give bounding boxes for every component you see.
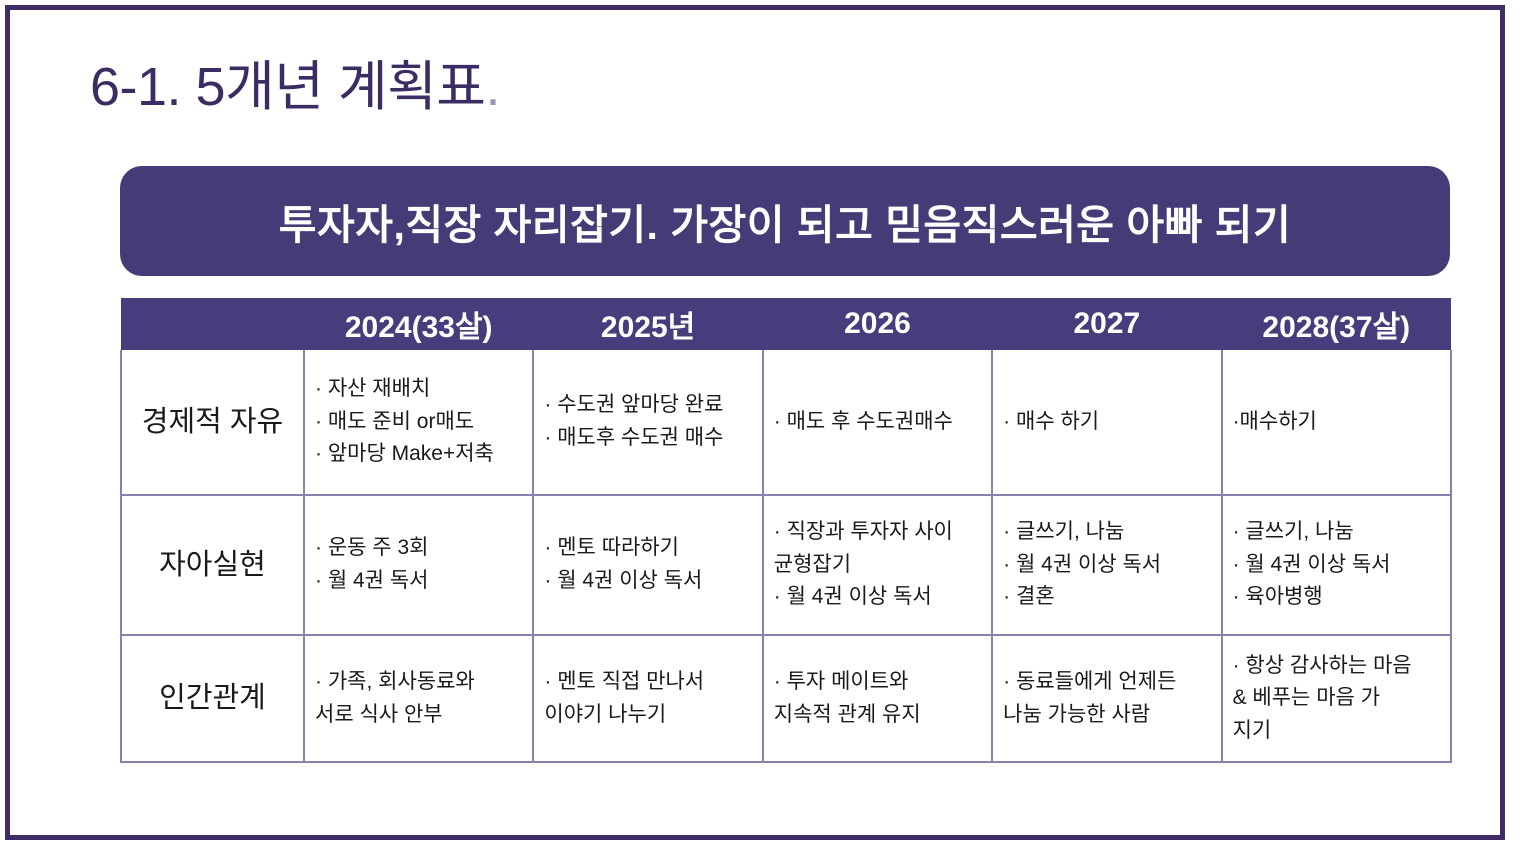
cell-text: · 직장과 투자자 사이 균형잡기 · 월 4권 이상 독서 (774, 516, 981, 614)
table-header-2028: 2028(37살) (1222, 298, 1451, 350)
cell-relationships-2027: · 동료들에게 언제든 나눔 가능한 사람 (992, 635, 1221, 762)
cell-text: · 멘토 직접 만나서 이야기 나누기 (544, 666, 751, 731)
page-title-text: 6-1. 5개년 계획표 (90, 57, 486, 117)
cell-relationships-2026: · 투자 메이트와 지속적 관계 유지 (763, 635, 992, 762)
goal-banner-text: 투자자,직장 자리잡기. 가장이 되고 믿음직스러운 아빠 되기 (279, 191, 1291, 251)
cell-text: · 매도 후 수도권매수 (774, 406, 981, 439)
cell-text: ·매수하기 (1233, 406, 1440, 439)
cell-self-realization-2028: · 글쓰기, 나눔 · 월 4권 이상 독서 · 육아병행 (1222, 495, 1451, 635)
cell-relationships-2028: · 항상 감사하는 마음 & 베푸는 마음 가 지기 (1222, 635, 1451, 762)
cell-text: · 가족, 회사동료와 서로 식사 안부 (315, 666, 522, 731)
cell-economic-freedom-2026: · 매도 후 수도권매수 (763, 350, 992, 495)
cell-text: · 글쓰기, 나눔 · 월 4권 이상 독서 · 육아병행 (1233, 516, 1440, 614)
cell-self-realization-2026: · 직장과 투자자 사이 균형잡기 · 월 4권 이상 독서 (763, 495, 992, 635)
table-header-row: 2024(33살) 2025년 2026 2027 2028(37살) (121, 298, 1451, 350)
goal-banner: 투자자,직장 자리잡기. 가장이 되고 믿음직스러운 아빠 되기 (120, 166, 1450, 276)
page-title-period: . (486, 57, 501, 117)
slide-frame: 6-1. 5개년 계획표. 투자자,직장 자리잡기. 가장이 되고 믿음직스러운… (5, 5, 1505, 840)
table-header-corner (121, 298, 304, 350)
cell-text: · 멘토 따라하기 · 월 4권 이상 독서 (544, 532, 751, 597)
cell-economic-freedom-2025: · 수도권 앞마당 완료 · 매도후 수도권 매수 (533, 350, 762, 495)
cell-self-realization-2024: · 운동 주 3회 · 월 4권 독서 (304, 495, 533, 635)
table-header-2027: 2027 (992, 298, 1221, 350)
cell-economic-freedom-2024: · 자산 재배치 · 매도 준비 or매도 · 앞마당 Make+저축 (304, 350, 533, 495)
cell-text: · 운동 주 3회 · 월 4권 독서 (315, 532, 522, 597)
cell-text: · 글쓰기, 나눔 · 월 4권 이상 독서 · 결혼 (1003, 516, 1210, 614)
row-label-relationships: 인간관계 (121, 635, 304, 762)
cell-relationships-2024: · 가족, 회사동료와 서로 식사 안부 (304, 635, 533, 762)
cell-text: · 투자 메이트와 지속적 관계 유지 (774, 666, 981, 731)
five-year-plan-table: 2024(33살) 2025년 2026 2027 2028(37살) 경제적 … (120, 298, 1452, 763)
table-row: 자아실현 · 운동 주 3회 · 월 4권 독서 · 멘토 따라하기 · 월 4… (121, 495, 1451, 635)
table-row: 인간관계 · 가족, 회사동료와 서로 식사 안부 · 멘토 직접 만나서 이야… (121, 635, 1451, 762)
cell-text: · 수도권 앞마당 완료 · 매도후 수도권 매수 (544, 389, 751, 454)
table-row: 경제적 자유 · 자산 재배치 · 매도 준비 or매도 · 앞마당 Make+… (121, 350, 1451, 495)
table-body: 경제적 자유 · 자산 재배치 · 매도 준비 or매도 · 앞마당 Make+… (121, 350, 1451, 762)
five-year-plan-table-wrapper: 2024(33살) 2025년 2026 2027 2028(37살) 경제적 … (120, 298, 1450, 763)
cell-self-realization-2027: · 글쓰기, 나눔 · 월 4권 이상 독서 · 결혼 (992, 495, 1221, 635)
cell-self-realization-2025: · 멘토 따라하기 · 월 4권 이상 독서 (533, 495, 762, 635)
cell-economic-freedom-2028: ·매수하기 (1222, 350, 1451, 495)
page-title: 6-1. 5개년 계획표. (90, 58, 500, 117)
cell-text: · 자산 재배치 · 매도 준비 or매도 · 앞마당 Make+저축 (315, 373, 522, 471)
cell-economic-freedom-2027: · 매수 하기 (992, 350, 1221, 495)
cell-text: · 항상 감사하는 마음 & 베푸는 마음 가 지기 (1233, 650, 1440, 748)
table-header-2025: 2025년 (533, 298, 762, 350)
row-label-economic-freedom: 경제적 자유 (121, 350, 304, 495)
cell-relationships-2025: · 멘토 직접 만나서 이야기 나누기 (533, 635, 762, 762)
table-header-2024: 2024(33살) (304, 298, 533, 350)
table-header-2026: 2026 (763, 298, 992, 350)
table-header: 2024(33살) 2025년 2026 2027 2028(37살) (121, 298, 1451, 350)
row-label-self-realization: 자아실현 (121, 495, 304, 635)
cell-text: · 동료들에게 언제든 나눔 가능한 사람 (1003, 666, 1210, 731)
cell-text: · 매수 하기 (1003, 406, 1210, 439)
